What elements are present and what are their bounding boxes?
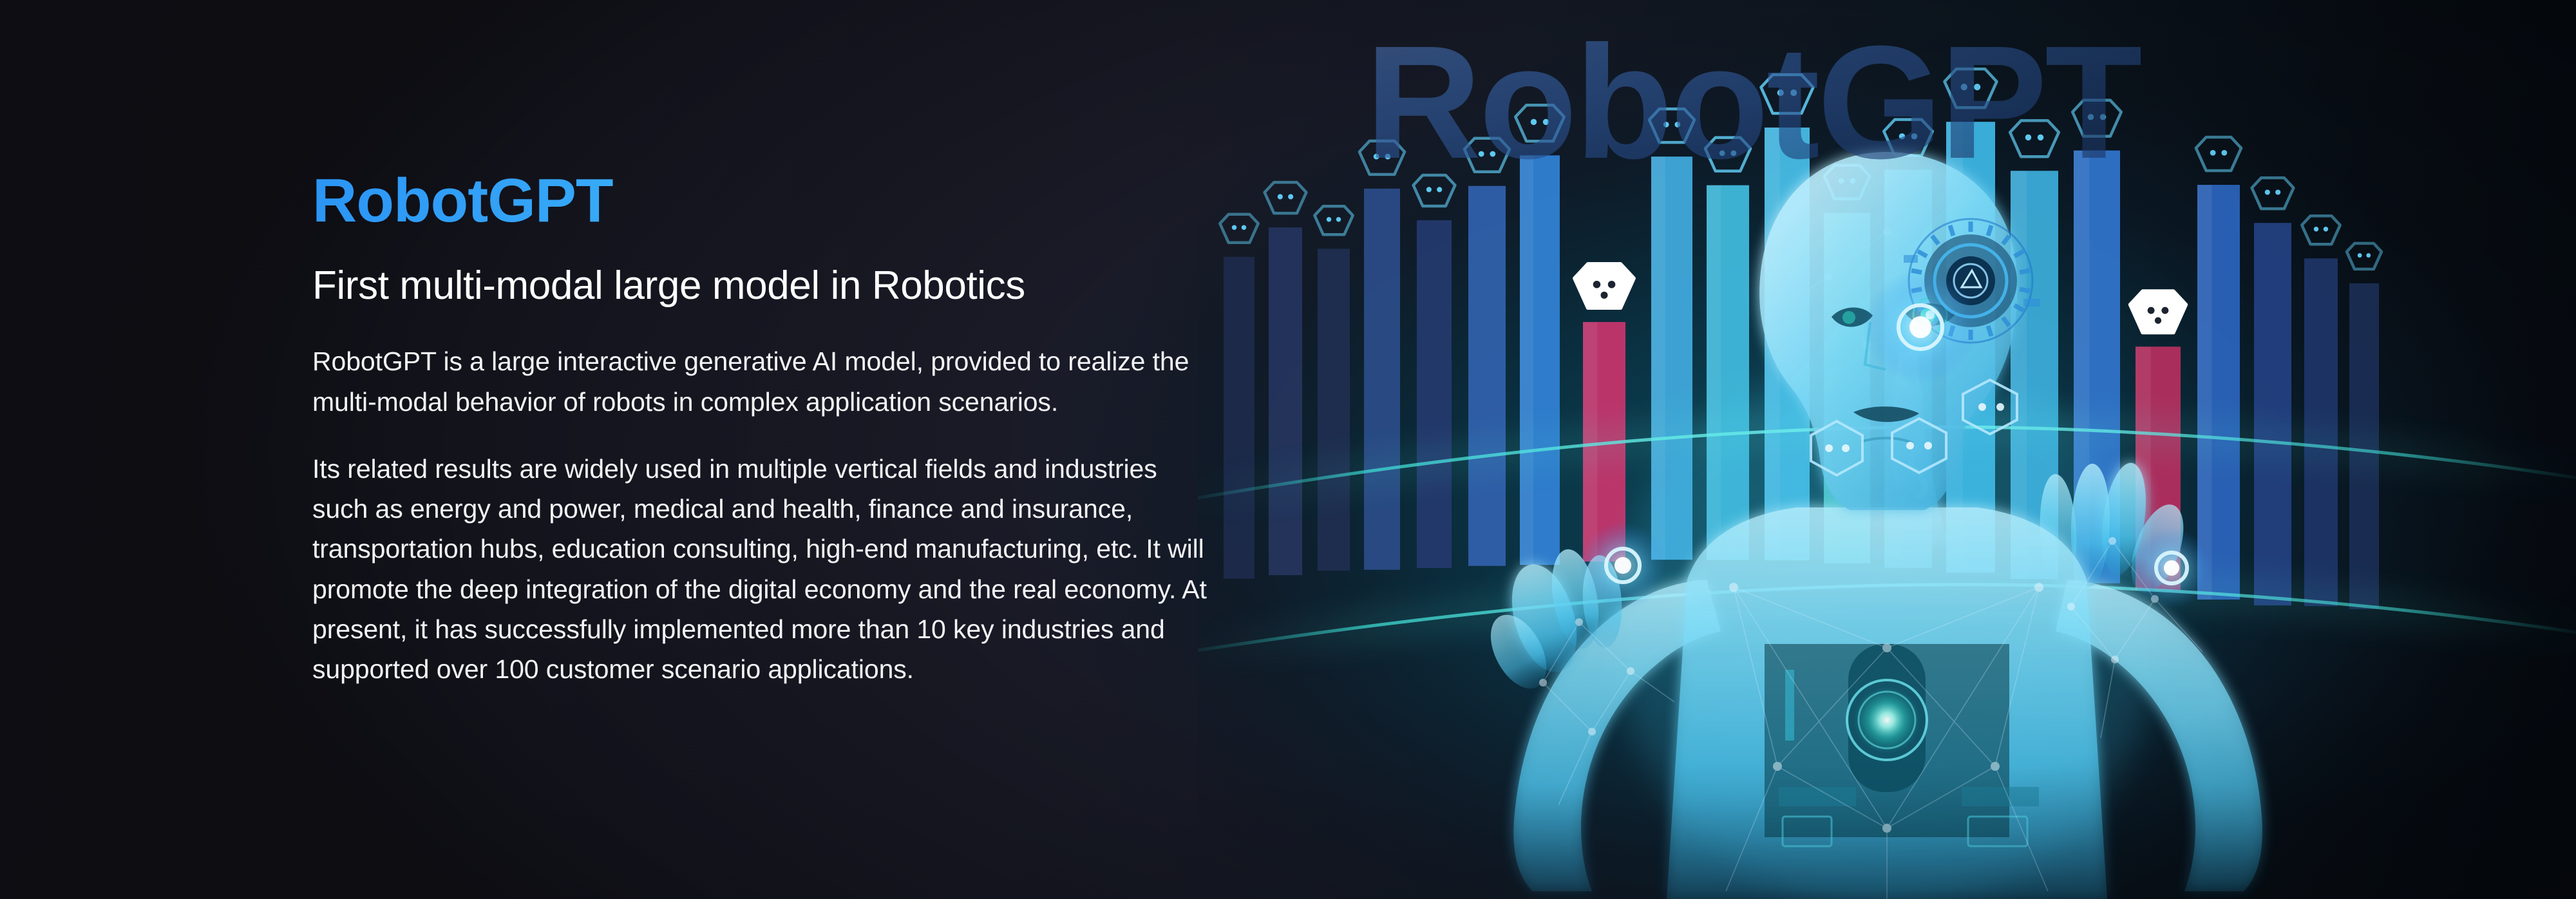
- hero-banner: RobotGPT RobotGPT First multi-modal larg…: [0, 0, 2576, 899]
- chart-bar: [1364, 189, 1400, 570]
- hero-copy: RobotGPT First multi-modal large model i…: [312, 169, 1220, 690]
- chart-bar: [1417, 220, 1452, 568]
- chart-bar: [1318, 249, 1350, 571]
- chart-bar: [2254, 223, 2291, 605]
- chart-bar: [1224, 257, 1255, 579]
- hero-description: RobotGPT is a large interactive generati…: [312, 341, 1214, 690]
- node-core: [2164, 560, 2179, 576]
- description-paragraph-2: Its related results are widely used in m…: [312, 449, 1214, 690]
- description-paragraph-1: RobotGPT is a large interactive generati…: [312, 341, 1214, 422]
- robot-face-badge: [1575, 264, 1634, 308]
- node-core: [1615, 557, 1631, 574]
- page-title: RobotGPT: [312, 169, 1220, 234]
- robot-face-badge: [2130, 291, 2186, 332]
- chart-bar: [2304, 258, 2338, 606]
- robot-illustration-svg: [1198, 0, 2576, 899]
- chart-bar: [1269, 227, 1302, 575]
- node-core: [1909, 316, 1931, 338]
- chart-bar: [1468, 186, 1506, 566]
- page-subtitle: First multi-modal large model in Robotic…: [312, 263, 1220, 308]
- robot-illustration: [1198, 0, 2576, 899]
